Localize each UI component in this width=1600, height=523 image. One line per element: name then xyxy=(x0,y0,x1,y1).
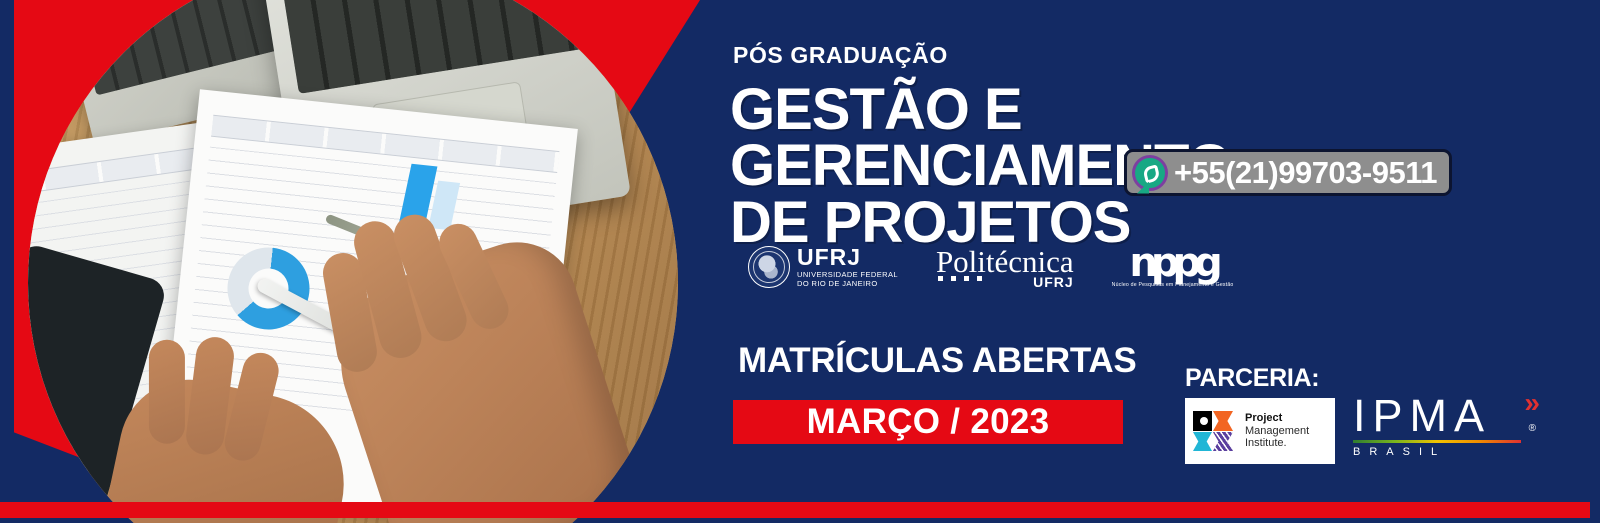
whatsapp-phone-badge[interactable]: +55(21)99703-9511 xyxy=(1124,149,1452,196)
ufrj-acronym: UFRJ xyxy=(797,244,861,270)
course-promo-banner: PÓS GRADUAÇÃO GESTÃO E GERENCIAMENTO DE … xyxy=(0,0,1600,523)
institution-logo-row: UFRJ UNIVERSIDADE FEDERAL DO RIO DE JANE… xyxy=(748,236,1234,298)
phone-number: +55(21)99703-9511 xyxy=(1174,155,1437,191)
ipma-chevrons-icon: » xyxy=(1524,389,1537,417)
ipma-wordmark: IPMA xyxy=(1353,390,1491,441)
enrollment-period-band: MARÇO / 2023 xyxy=(733,400,1123,444)
ufrj-name-line-1: UNIVERSIDADE FEDERAL xyxy=(797,270,898,279)
ufrj-name-line-2: DO RIO DE JANEIRO xyxy=(797,279,898,288)
bottom-red-bar xyxy=(0,502,1590,518)
politecnica-dots xyxy=(938,276,982,281)
politecnica-name: Politécnica xyxy=(936,246,1074,277)
pmi-line-3: Institute. xyxy=(1245,437,1287,449)
enrollment-period: MARÇO / 2023 xyxy=(807,402,1050,442)
partners-label: PARCERIA: xyxy=(1185,364,1319,393)
ipma-logo: IPMA » ® BRASIL xyxy=(1353,393,1533,458)
ufrj-seal-icon xyxy=(748,246,790,288)
nppg-caption: Núcleo de Pesquisas em Planejamento e Ge… xyxy=(1112,282,1234,288)
enrollment-label: MATRÍCULAS ABERTAS xyxy=(738,341,1136,381)
pmi-line-1: Project xyxy=(1245,412,1309,425)
left-navy-strip xyxy=(0,0,14,523)
promo-content: PÓS GRADUAÇÃO GESTÃO E GERENCIAMENTO DE … xyxy=(733,0,1600,523)
keyboard-icon xyxy=(276,0,588,94)
nppg-wordmark: nppg xyxy=(1112,247,1234,279)
pmi-logo: Project Management Institute. xyxy=(1185,398,1335,464)
nppg-logo: nppg Núcleo de Pesquisas em Planejamento… xyxy=(1112,247,1234,288)
ufrj-logo: UFRJ UNIVERSIDADE FEDERAL DO RIO DE JANE… xyxy=(748,246,898,289)
ipma-country: BRASIL xyxy=(1353,446,1533,458)
pmi-logo-icon xyxy=(1193,411,1239,451)
ipma-registered-mark: ® xyxy=(1529,424,1543,434)
politecnica-logo: Politécnica UFRJ xyxy=(936,246,1074,289)
pmi-line-2: Management xyxy=(1245,425,1309,437)
whatsapp-icon xyxy=(1132,155,1168,191)
eyebrow-label: PÓS GRADUAÇÃO xyxy=(733,42,948,69)
hero-photo xyxy=(28,0,678,523)
